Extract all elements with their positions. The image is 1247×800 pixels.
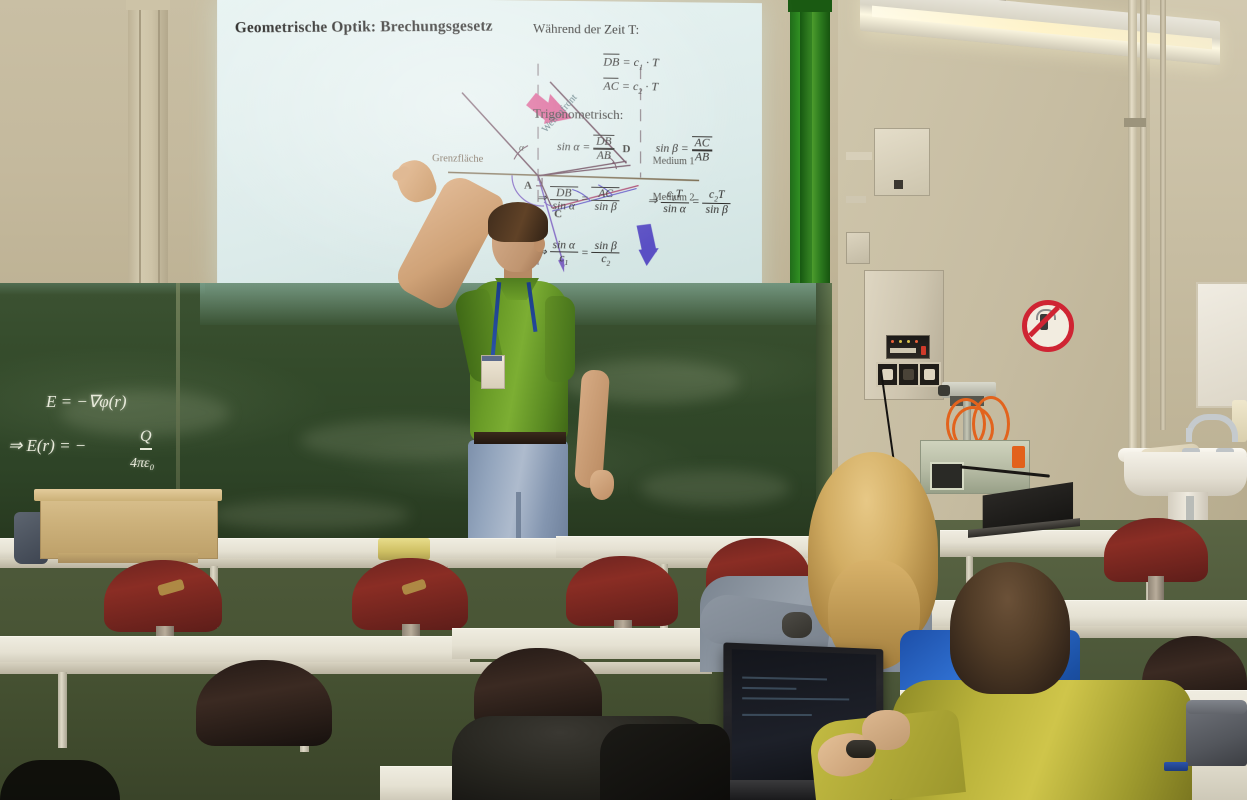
- label-angle-alpha: α: [519, 143, 524, 153]
- chalk-smudge: [210, 500, 410, 530]
- equation-ac: AC = c2 · T: [603, 78, 658, 96]
- faucet-spout: [1186, 428, 1192, 442]
- student-blonde-hand: [782, 612, 812, 638]
- faucet-arc: [1186, 414, 1238, 442]
- grey-case-lid: [1186, 700, 1247, 714]
- slide-title: Geometrische Optik: Brechungsgesetz: [235, 18, 493, 38]
- power-socket[interactable]: [918, 362, 941, 387]
- table-middle-left: [0, 636, 470, 665]
- green-track-cap: [788, 0, 832, 12]
- wall-pipe: [1160, 0, 1166, 430]
- name-badge-header: [482, 356, 502, 361]
- chair-backrest: [566, 556, 678, 626]
- wall-junction-box: [846, 232, 870, 264]
- sink-basin: [1124, 452, 1247, 496]
- foreground-shadow: [0, 760, 120, 800]
- chalk-smudge: [640, 470, 790, 506]
- table-leg: [58, 672, 67, 748]
- panel-led: [907, 340, 910, 343]
- equation-snell: ⇒ sin αc1 = sin βc2: [537, 239, 620, 268]
- table-middle-center: [452, 628, 712, 659]
- wall-pipe: [1140, 0, 1147, 460]
- equation-db: DB = c1 · T: [603, 54, 658, 72]
- panel-label-strip: [890, 348, 916, 353]
- cart-instrument-window: [930, 462, 964, 490]
- slide-heading-waehrend: Während der Zeit T:: [533, 21, 639, 38]
- lecture-room-photo: Geometrische Optik: Brechungsgesetz: [0, 0, 1247, 800]
- control-panel-display: [886, 335, 930, 359]
- lectern: [40, 495, 218, 559]
- equation-ratio-1: ⇒ DBsin α = ACsin β: [537, 186, 620, 213]
- left-track-seam-2: [158, 0, 160, 290]
- chalk-equation-2: ⇒ E(r) = −: [8, 436, 86, 456]
- panel-led: [921, 346, 926, 355]
- screen-text-line: [742, 714, 812, 716]
- power-socket[interactable]: [876, 362, 899, 387]
- presenter-belt: [474, 432, 566, 444]
- screen-text-line: [742, 697, 849, 700]
- table-edge: [0, 662, 712, 674]
- panel-led: [891, 340, 894, 343]
- label-grenzflaeche: Grenzfläche: [432, 153, 483, 165]
- student-foreground-head: [950, 562, 1070, 694]
- backpack-shadow: [600, 724, 730, 800]
- slide-heading-trigonometrisch: Trigonometrisch:: [533, 106, 623, 123]
- cart-orange-handle: [1012, 446, 1025, 468]
- no-mobile-phone-sign: [1022, 300, 1074, 352]
- wall-strip: [846, 152, 872, 160]
- chalk-fraction-numerator: Q: [140, 428, 152, 450]
- pipe-clamp: [1124, 118, 1146, 127]
- chalkboard-projection-spill-left: [0, 283, 205, 295]
- outgoing-direction-arrow: [637, 224, 659, 267]
- equation-ratio-2: ⇒ c1Tsin α = c2Tsin β: [648, 188, 731, 217]
- green-board-track-shadow: [800, 0, 812, 300]
- screen-text-line: [742, 687, 796, 690]
- left-board-track: [128, 0, 168, 290]
- left-track-cap: [126, 0, 170, 10]
- equation-sin-beta: sin β = ACAB: [656, 136, 713, 164]
- equation-sin-alpha: sin α = DBAB: [557, 134, 614, 162]
- lectern-top: [34, 489, 222, 501]
- presenter-right-hand: [590, 470, 614, 500]
- blue-object: [1164, 762, 1188, 771]
- chair-backrest: [1104, 518, 1208, 582]
- chalkboard-sponge: [378, 538, 430, 560]
- computer-mouse[interactable]: [846, 740, 876, 758]
- presenter-hair: [488, 202, 548, 242]
- chalk-equation-1: E = −∇φ(r): [46, 392, 127, 412]
- small-whiteboard: [1196, 282, 1247, 408]
- wall-pipe: [1128, 0, 1137, 460]
- chalk-fraction-denominator: 4πε₀: [130, 456, 154, 472]
- label-point-a: A: [524, 180, 532, 192]
- left-track-seam: [139, 0, 141, 290]
- instrument-lens: [938, 385, 950, 396]
- panel-led: [899, 340, 902, 343]
- panel-led: [915, 340, 918, 343]
- presenter-right-sleeve: [545, 296, 575, 382]
- screen-text-line: [742, 677, 827, 681]
- projection-screen: Geometrische Optik: Brechungsgesetz: [217, 0, 762, 305]
- wall-panel-vent: [894, 180, 903, 189]
- power-socket[interactable]: [897, 362, 920, 387]
- label-point-d: D: [622, 143, 630, 155]
- wall-strip-lower: [846, 196, 866, 203]
